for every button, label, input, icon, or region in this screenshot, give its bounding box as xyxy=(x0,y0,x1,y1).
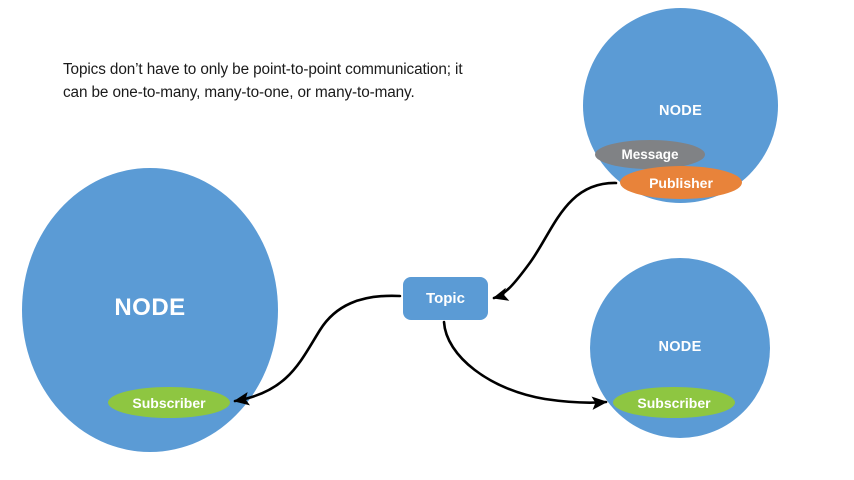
arrow-publisher-to-topic xyxy=(494,183,616,298)
badge-publisher: Publisher xyxy=(620,166,742,199)
diagram-canvas: Topics don’t have to only be point-to-po… xyxy=(0,0,854,480)
caption-line-1: Topics don’t have to only be point-to-po… xyxy=(63,58,483,81)
badge-subscriber-right: Subscriber xyxy=(613,387,735,418)
badge-message: Message xyxy=(595,140,705,169)
caption-text: Topics don’t have to only be point-to-po… xyxy=(63,58,483,105)
badge-subscriber-left: Subscriber xyxy=(108,387,230,418)
caption-line-2: can be one-to-many, many-to-one, or many… xyxy=(63,81,483,104)
topic-box: Topic xyxy=(403,277,488,320)
arrow-topic-to-subscriber-right xyxy=(444,322,606,403)
